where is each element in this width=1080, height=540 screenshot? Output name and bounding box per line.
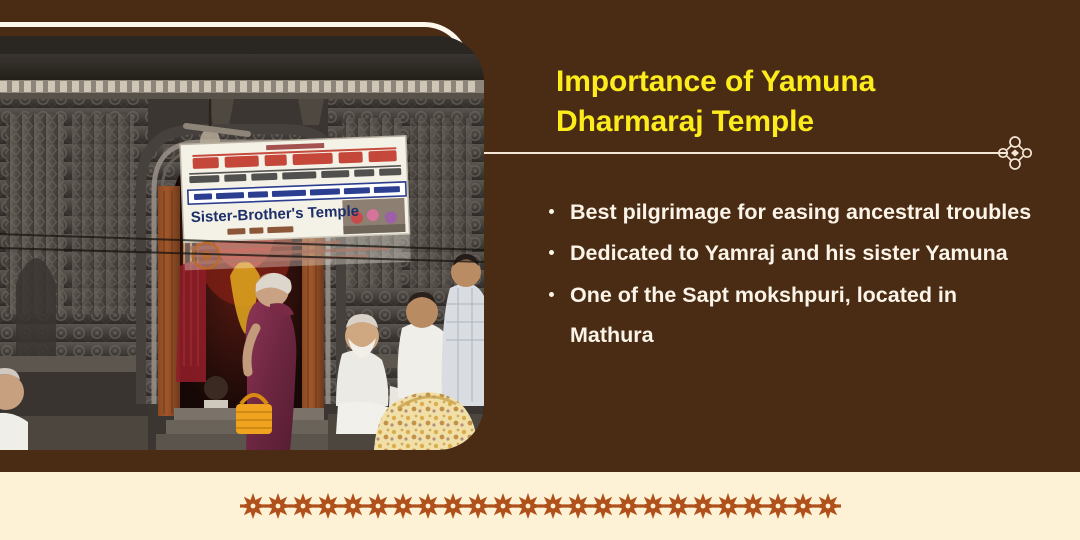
temple-signboard: Sister-Brother's Temple (180, 136, 411, 271)
slide-root: Sister-Brother's Temple (0, 0, 1080, 540)
temple-photo-illustration: Sister-Brother's Temple (0, 36, 484, 450)
flower-ornament-icon (415, 491, 441, 521)
bullet-dot-icon (549, 250, 554, 255)
list-item-label: Dedicated to Yamraj and his sister Yamun… (570, 241, 1008, 265)
temple-photo: Sister-Brother's Temple (0, 36, 484, 450)
flower-ornament-icon (690, 491, 716, 521)
flower-border-decoration (0, 490, 1080, 522)
flower-ornament-icon (315, 491, 341, 521)
list-item: One of the Sapt mokshpuri, located in Ma… (542, 275, 1040, 356)
flower-ornament-icon (365, 491, 391, 521)
flower-ornament-icon (790, 491, 816, 521)
flower-ornament-icon (740, 491, 766, 521)
flower-ornament-icon (465, 491, 491, 521)
flower-ornament-icon (815, 491, 841, 521)
flower-ornament-icon (665, 491, 691, 521)
flower-ornament-icon (540, 491, 566, 521)
list-item: Dedicated to Yamraj and his sister Yamun… (542, 233, 1040, 273)
flower-ornament-icon (615, 491, 641, 521)
flower-ornament-icon (290, 491, 316, 521)
list-item-label: One of the Sapt mokshpuri, located in Ma… (570, 283, 957, 347)
flower-ornament-icon (440, 491, 466, 521)
flower-ornament-icon (265, 491, 291, 521)
flower-ornament-icon (240, 491, 266, 521)
divider-line (484, 152, 1008, 154)
flower-ornament-icon (590, 491, 616, 521)
bullet-dot-icon (549, 209, 554, 214)
flower-ornament-icon (515, 491, 541, 521)
flower-ornament-icon (565, 491, 591, 521)
flower-ornament-icon (640, 491, 666, 521)
list-item: Best pilgrimage for easing ancestral tro… (542, 192, 1040, 232)
four-lobed-knot-ornament-icon (996, 135, 1034, 171)
bullet-dot-icon (549, 292, 554, 297)
flower-ornament-icon (340, 491, 366, 521)
flower-ornament-icon (765, 491, 791, 521)
divider (484, 152, 1032, 154)
flower-ornament-icon (715, 491, 741, 521)
list-item-label: Best pilgrimage for easing ancestral tro… (570, 200, 1031, 224)
photo-panel: Sister-Brother's Temple (0, 22, 486, 450)
bullet-list: Best pilgrimage for easing ancestral tro… (542, 192, 1040, 357)
flower-ornament-icon (390, 491, 416, 521)
flower-ornament-icon (490, 491, 516, 521)
page-title: Importance of Yamuna Dharmaraj Temple (556, 62, 1026, 141)
